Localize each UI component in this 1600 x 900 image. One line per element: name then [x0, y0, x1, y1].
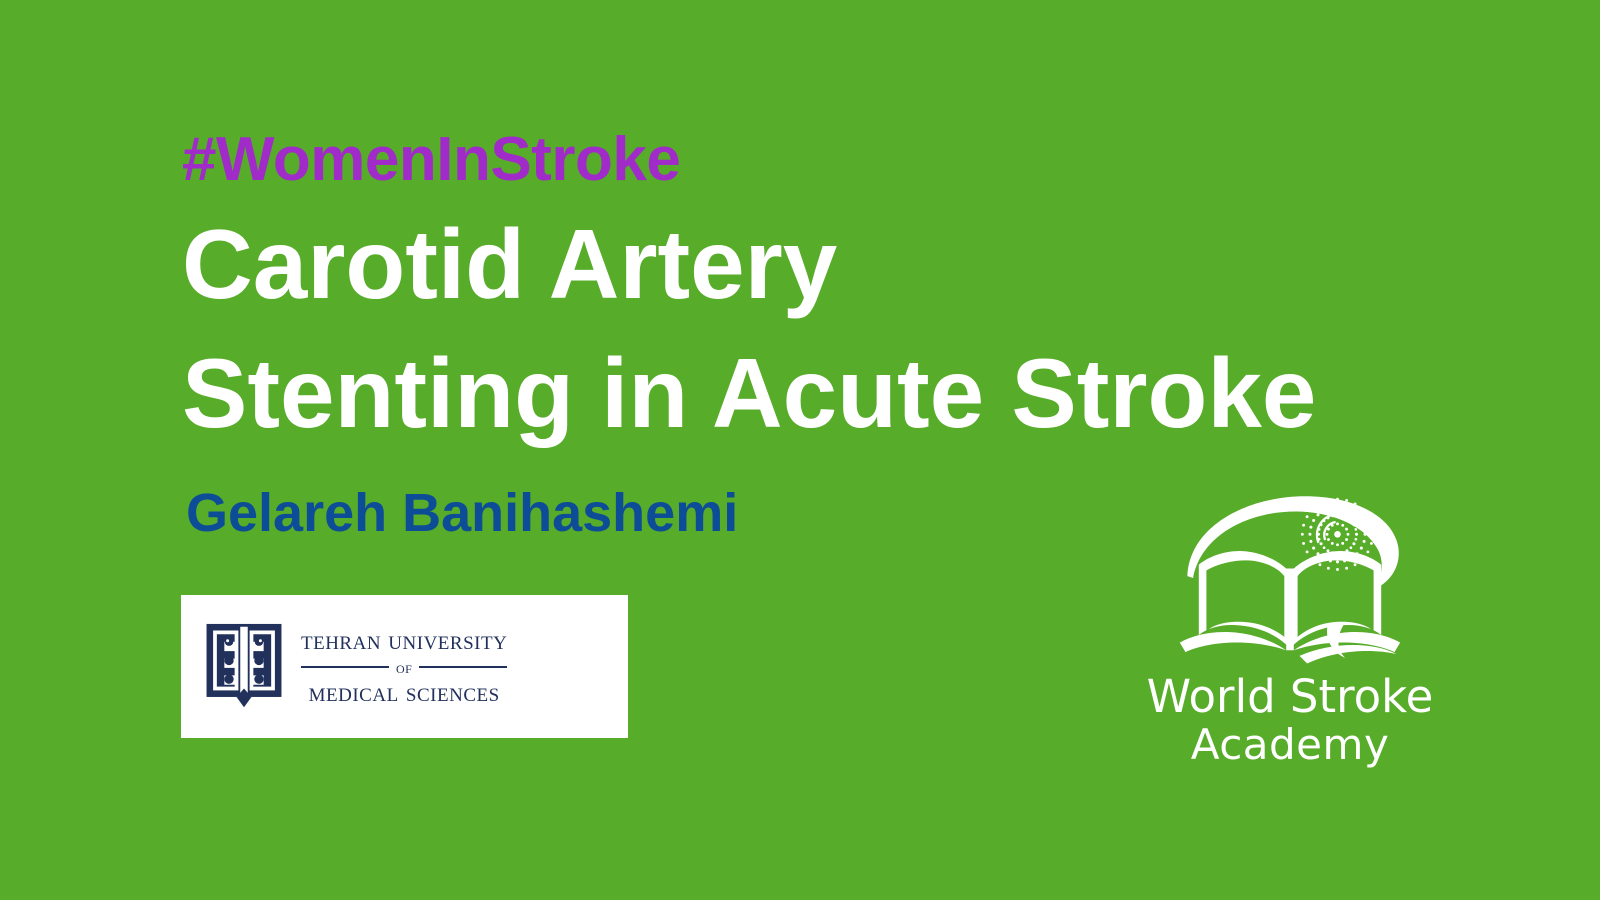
tehran-university-line-1: Tehran University	[301, 626, 507, 656]
campaign-hashtag: #WomenInStroke	[182, 128, 1542, 191]
tehran-university-line-2: Medical Sciences	[301, 678, 507, 708]
page-title-line-2: Stenting in Acute Stroke	[182, 326, 1542, 461]
tehran-university-connector: of	[389, 659, 419, 676]
presentation-slide: #WomenInStroke Carotid Artery Stenting i…	[0, 0, 1600, 900]
tehran-university-of-divider: of	[301, 659, 507, 676]
world-stroke-academy-logo: World Stroke Academy	[1100, 483, 1480, 783]
tehran-university-logo: Tehran University of Medical Sciences	[181, 595, 628, 738]
page-title-line-1: Carotid Artery	[182, 197, 1542, 332]
divider-rule-left	[301, 666, 389, 668]
wsa-name-line-2: Academy	[1100, 722, 1480, 767]
divider-rule-right	[419, 666, 507, 668]
title-text-block: #WomenInStroke Carotid Artery Stenting i…	[182, 128, 1542, 543]
open-book-with-arc-icon	[1145, 483, 1435, 673]
tehran-university-emblem-icon	[203, 623, 285, 711]
tehran-university-wordmark: Tehran University of Medical Sciences	[301, 626, 507, 707]
wsa-name-line-1: World Stroke	[1100, 673, 1480, 722]
